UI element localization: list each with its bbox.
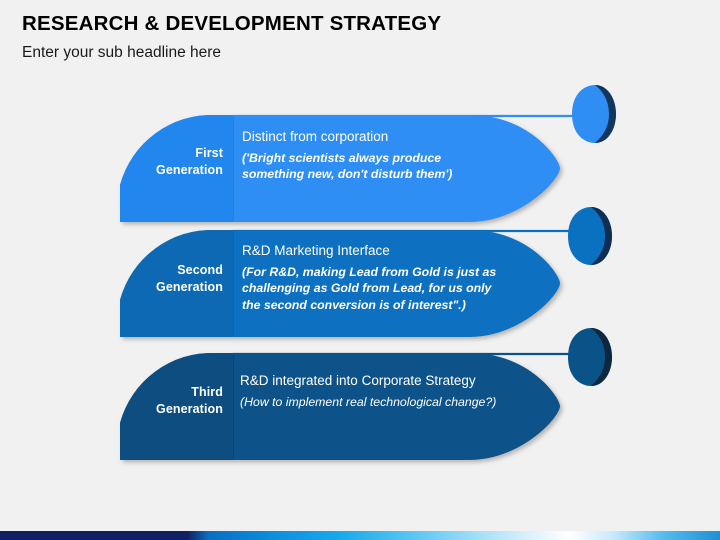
band-text-third: R&D integrated into Corporate Strategy (…: [240, 373, 512, 410]
band-quote-third: (How to implement real technological cha…: [240, 394, 512, 410]
generation-row-third[interactable]: Third Generation R&D integrated into Cor…: [0, 0, 720, 540]
footer-gradient-bar: [0, 531, 720, 540]
petal-third-generation[interactable]: [564, 326, 616, 388]
band-label-line1: Third: [118, 384, 223, 401]
band-heading-third: R&D integrated into Corporate Strategy: [240, 373, 512, 390]
band-shape-third: [0, 0, 720, 540]
generations-diagram: First Generation Distinct from corporati…: [0, 0, 720, 540]
band-label-third: Third Generation: [118, 384, 223, 417]
band-label-line2: Generation: [118, 401, 223, 418]
